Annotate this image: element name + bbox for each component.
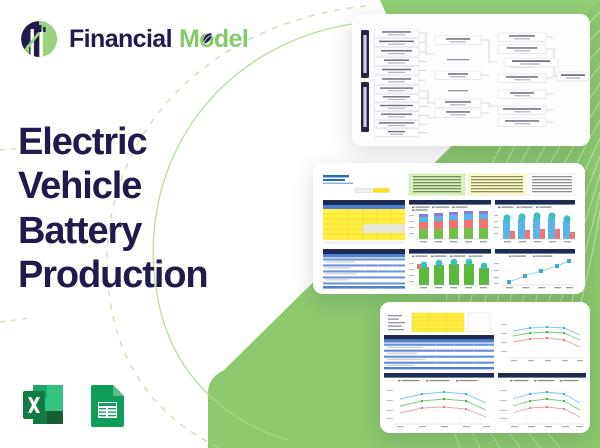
microsoft-excel-icon[interactable]	[18, 380, 68, 430]
scenario-table	[384, 335, 494, 369]
sensitivity-analysis-preview[interactable]	[380, 302, 590, 433]
dupont-analysis-preview[interactable]	[352, 14, 590, 146]
cash-flow-table	[323, 249, 405, 289]
leaf-icon	[200, 31, 214, 45]
headline-line-2: Vehicle	[18, 164, 300, 208]
brand-word-model: Model	[179, 25, 248, 54]
brand-wordmark: Financial Model	[69, 25, 248, 54]
brand-word-financial: Financial	[69, 25, 172, 54]
income-statement-table	[323, 200, 405, 244]
headline-line-4: Production	[18, 253, 300, 297]
page-title: Electric Vehicle Battery Production	[18, 120, 300, 298]
dashboard-mock	[313, 163, 585, 294]
dupont-level3-nodes	[498, 33, 546, 126]
sensitivity-analysis-mock	[380, 302, 590, 433]
hero-left-column: Financial Model Electric Vehicle Battery…	[0, 0, 300, 448]
dupont-analysis-diagram	[352, 14, 590, 146]
file-format-badges	[18, 380, 132, 430]
headline-line-3: Battery	[18, 209, 300, 253]
dashboard-preview[interactable]	[313, 163, 585, 294]
assumption-blocks	[409, 174, 575, 195]
headline-line-1: Electric	[18, 120, 300, 164]
brand-lockup: Financial Model	[18, 16, 300, 62]
financial-model-circle-logo	[18, 18, 60, 60]
google-sheets-icon[interactable]	[82, 380, 132, 430]
